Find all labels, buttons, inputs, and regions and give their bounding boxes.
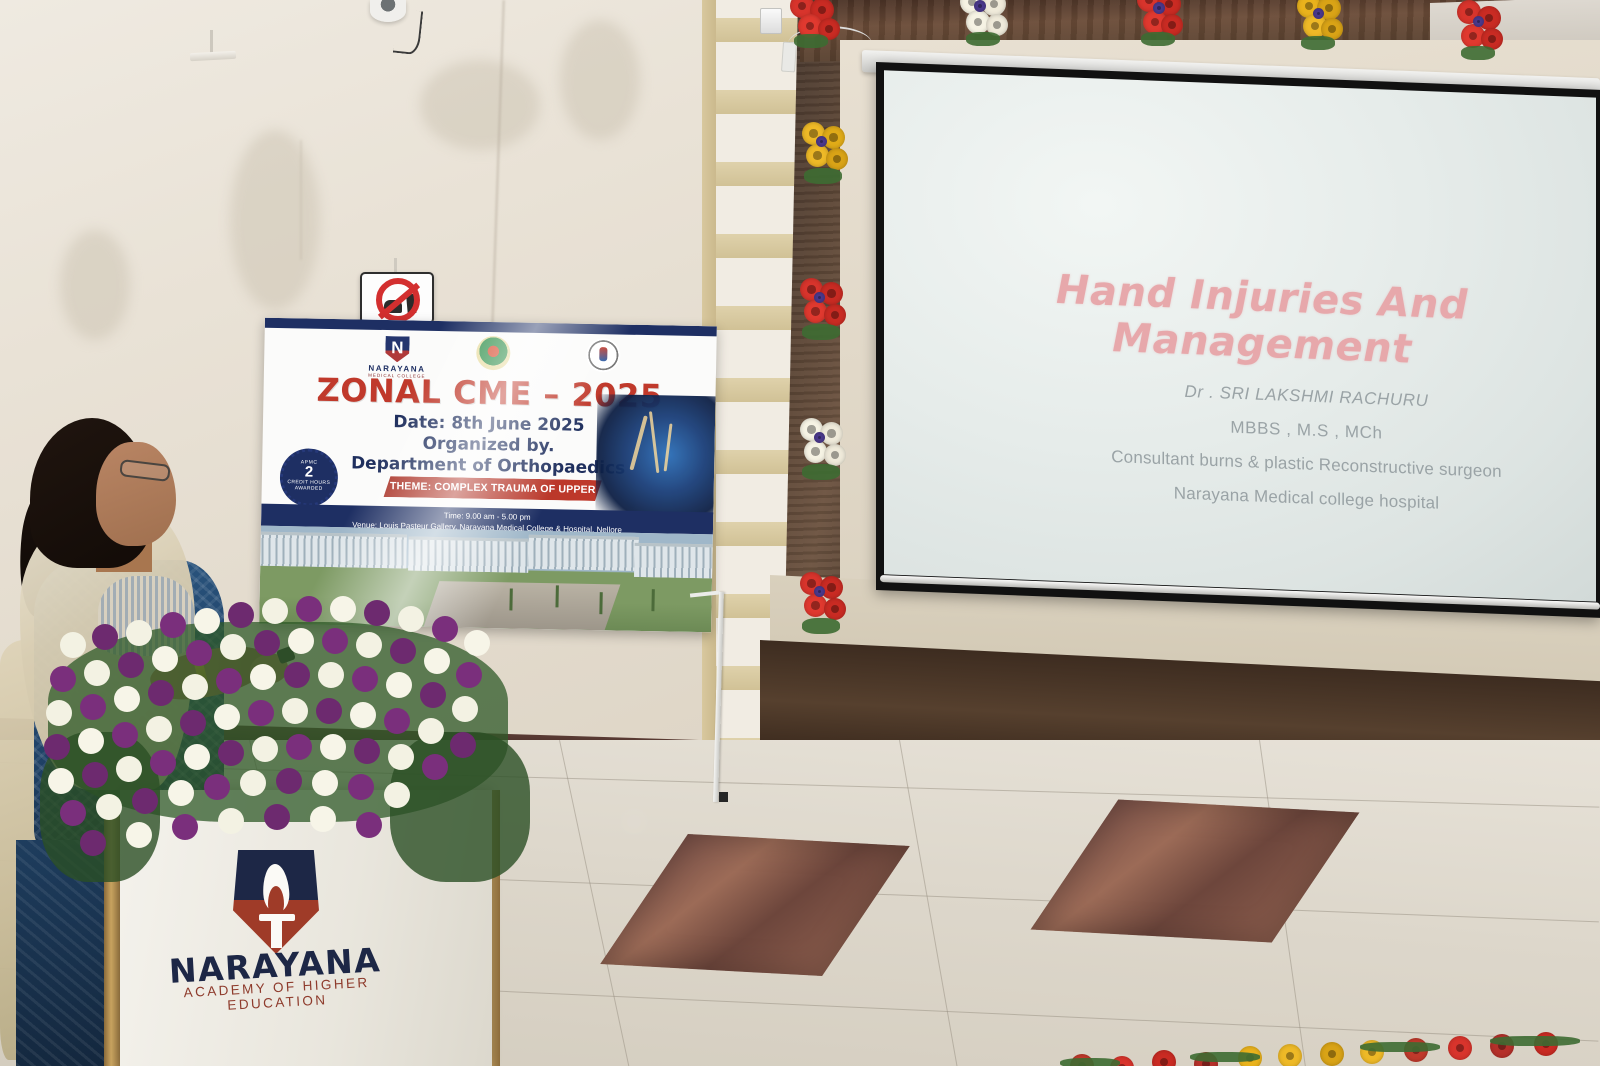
flower-decoration <box>798 418 860 490</box>
floor-accent-tile <box>600 834 910 976</box>
banner-artwork <box>595 394 715 514</box>
flower-decoration <box>1135 0 1197 50</box>
flower-decoration <box>798 278 860 348</box>
flower-decoration <box>1455 0 1517 64</box>
slide-title: Hand Injuries And Management <box>962 263 1562 378</box>
flower-decoration <box>790 0 850 56</box>
floor-flower-row <box>1060 1040 1600 1066</box>
slide-qualifications: MBBS , M.S , MCh <box>1034 410 1579 451</box>
slide-affiliation: Narayana Medical college hospital <box>1034 478 1579 519</box>
flower-decoration <box>800 122 862 192</box>
state-emblem-icon <box>476 336 511 371</box>
slide-presenter: Dr . SRI LAKSHMI RACHURU <box>1034 376 1579 417</box>
face <box>96 442 176 546</box>
projected-slide: Hand Injuries And Management Dr . SRI LA… <box>884 70 1596 601</box>
podium-flower-arrangement <box>40 582 520 882</box>
flower-decoration <box>798 572 860 644</box>
narayana-shield-icon <box>385 336 409 362</box>
power-socket <box>760 8 782 34</box>
credit-hours-seal: APMC 2 CREDIT HOURS AWARDED <box>279 448 338 507</box>
no-food-or-drink-icon <box>360 272 434 324</box>
slide-designation: Consultant burns & plastic Reconstructiv… <box>1034 444 1579 485</box>
floor-accent-tile <box>1031 799 1360 942</box>
banner-theme: THEME: COMPLEX TRAUMA OF UPPER LIMB <box>384 476 602 501</box>
association-emblem-icon <box>586 338 621 373</box>
projector-screen: Hand Injuries And Management Dr . SRI LA… <box>876 62 1600 618</box>
seal-line2: AWARDED <box>283 485 335 492</box>
slide-body: Dr . SRI LAKSHMI RACHURU MBBS , M.S , MC… <box>1034 376 1579 533</box>
conference-hall-photo: Hand Injuries And Management Dr . SRI LA… <box>0 0 1600 1066</box>
flower-decoration <box>1295 0 1357 56</box>
flower-decoration <box>960 0 1022 50</box>
ceiling-rod <box>210 30 213 54</box>
seal-hours: 2 <box>283 465 335 480</box>
easel-foot <box>719 792 728 802</box>
